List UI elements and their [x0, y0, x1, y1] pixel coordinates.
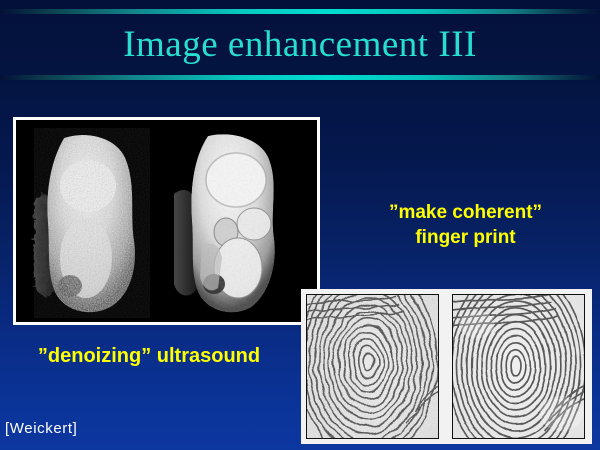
- enhanced-fingerprint-graphic: [453, 295, 584, 438]
- noisy-fingerprint-graphic: [307, 295, 438, 438]
- noisy-fingerprint: [306, 294, 439, 439]
- title-rule-bottom-decoration: [0, 75, 600, 80]
- coherence-enhanced-fingerprint: [452, 294, 585, 439]
- fingerprint-caption-line2: finger print: [338, 225, 593, 250]
- fingerprint-caption-line1: ”make coherent”: [338, 200, 593, 225]
- page-title: Image enhancement III: [0, 22, 600, 68]
- fingerprint-figure-panel: [301, 289, 592, 444]
- fingerprint-caption: ”make coherent” finger print: [338, 200, 593, 250]
- slide-canvas: Image enhancement III: [0, 0, 600, 450]
- ultrasound-figure-panel: [13, 117, 320, 325]
- denoised-ultrasound-graphic: [168, 128, 303, 318]
- denoised-3d-ultrasound-render: [168, 128, 303, 318]
- noisy-ultrasound-graphic: [26, 128, 161, 318]
- noisy-3d-ultrasound-render: [26, 128, 161, 318]
- ultrasound-caption: ”denoizing” ultrasound: [14, 344, 284, 369]
- title-rule-top-decoration: [0, 9, 600, 14]
- source-credit: [Weickert]: [5, 420, 77, 437]
